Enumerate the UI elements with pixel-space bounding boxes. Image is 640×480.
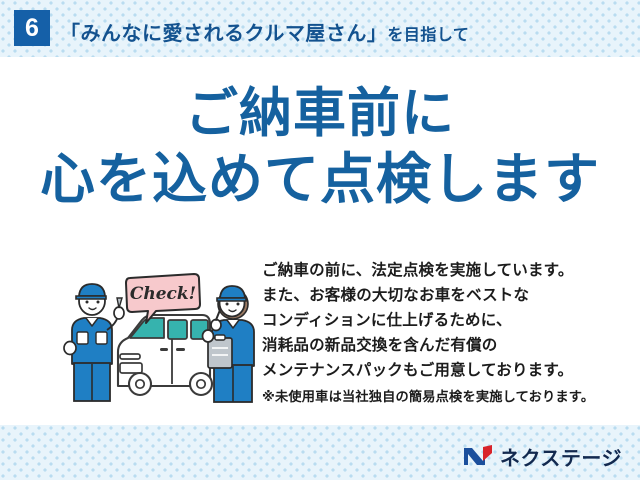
mechanics-illustration-svg: Check! xyxy=(60,268,265,403)
section-number-badge: 6 xyxy=(14,10,50,46)
check-bubble-label: Check! xyxy=(130,284,196,304)
body-line-4: 消耗品の新品交換を含んだ有償の xyxy=(262,333,634,358)
page-headline: ご納車前に 心を込めて点検します xyxy=(0,85,640,210)
nextage-logo-text: ネクステージ xyxy=(500,442,622,471)
body-footnote: ※未使用車は当社独自の簡易点検を実施しております。 xyxy=(262,386,634,407)
body-line-2: また、お客様の大切なお車をベストな xyxy=(262,283,634,308)
body-line-3: コンディションに仕上げるために、 xyxy=(262,308,634,333)
body-line-1: ご納車の前に、法定点検を実施しています。 xyxy=(262,258,634,283)
promo-banner: 6 「みんなに愛されるクルマ屋さん」を目指して ご納車前に 心を込めて点検します xyxy=(0,0,640,480)
nextage-n-mark-icon xyxy=(463,444,493,468)
body-copy: ご納車の前に、法定点検を実施しています。 また、お客様の大切なお車をベストな コ… xyxy=(262,258,634,407)
headline-line-2: 心を込めて点検します xyxy=(0,150,640,209)
van-graphic xyxy=(118,315,212,395)
body-line-5: メンテナンスパックもご用意しております。 xyxy=(262,358,634,383)
mechanic-left xyxy=(64,284,124,401)
headline-line-1: ご納車前に xyxy=(0,85,640,142)
header-title-quoted: 「みんなに愛されるクルマ屋さん」 xyxy=(60,23,387,45)
nextage-logo: ネクステージ xyxy=(463,442,622,470)
header-title-suffix: を目指して xyxy=(387,27,469,44)
mechanics-illustration: Check! xyxy=(60,268,265,403)
header-title: 「みんなに愛されるクルマ屋さん」を目指して xyxy=(60,17,469,46)
